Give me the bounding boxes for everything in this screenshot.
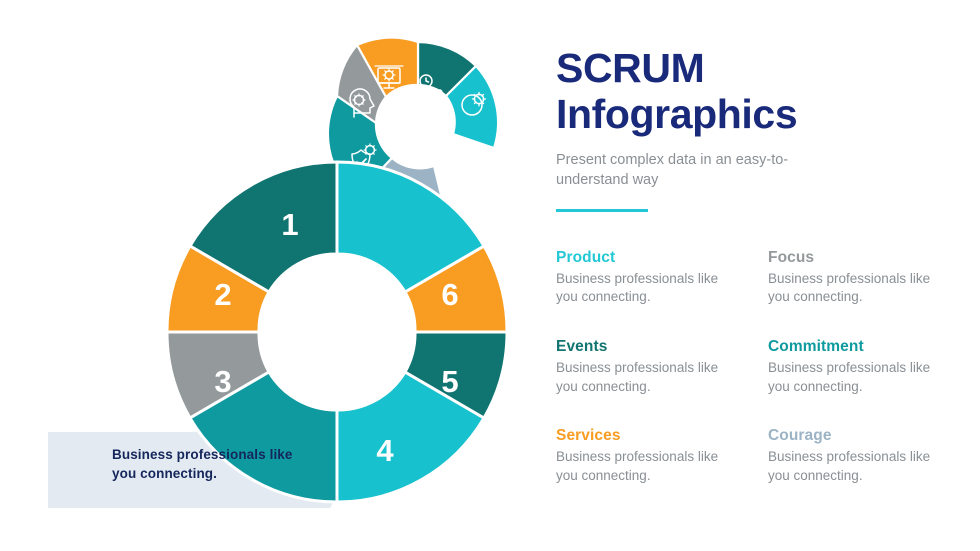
legend-title-courage: Courage xyxy=(768,427,960,445)
donut-number-1: 1 xyxy=(281,207,298,242)
legend-grid: Product Business professionals like you … xyxy=(556,249,960,486)
donut-number-5: 5 xyxy=(441,364,458,399)
donut-number-4: 4 xyxy=(376,433,394,468)
donut-number-3: 3 xyxy=(214,364,231,399)
slide-canvas: 1 2 3 4 5 6 Business professionals like … xyxy=(0,0,980,551)
callout-text: Business professionals like you connecti… xyxy=(112,445,312,483)
donut-number-6: 6 xyxy=(441,277,458,312)
legend-desc-commitment: Business professionals like you connecti… xyxy=(768,359,936,396)
legend-title-product: Product xyxy=(556,249,768,267)
legend-item-focus[interactable]: Focus Business professionals like you co… xyxy=(768,249,960,307)
legend-desc-product: Business professionals like you connecti… xyxy=(556,270,724,307)
legend-title-events: Events xyxy=(556,338,768,356)
legend-title-commitment: Commitment xyxy=(768,338,960,356)
page-subtitle: Present complex data in an easy-to-under… xyxy=(556,150,806,190)
title-line-2: Infographics xyxy=(556,92,960,138)
legend-desc-events: Business professionals like you connecti… xyxy=(556,359,724,396)
legend-item-events[interactable]: Events Business professionals like you c… xyxy=(556,338,768,396)
donut-number-2: 2 xyxy=(214,277,231,312)
legend-desc-courage: Business professionals like you connecti… xyxy=(768,448,936,485)
page-title: SCRUM Infographics xyxy=(556,46,960,138)
legend-desc-focus: Business professionals like you connecti… xyxy=(768,270,936,307)
legend-item-courage[interactable]: Courage Business professionals like you … xyxy=(768,427,960,485)
legend-desc-services: Business professionals like you connecti… xyxy=(556,448,724,485)
title-divider xyxy=(556,209,648,212)
legend-title-services: Services xyxy=(556,427,768,445)
donut-center-hole xyxy=(259,254,415,410)
content-panel: SCRUM Infographics Present complex data … xyxy=(556,46,960,516)
legend-item-services[interactable]: Services Business professionals like you… xyxy=(556,427,768,485)
title-line-1: SCRUM xyxy=(556,45,704,91)
legend-title-focus: Focus xyxy=(768,249,960,267)
legend-item-product[interactable]: Product Business professionals like you … xyxy=(556,249,768,307)
scrum-wheel-graphic: 1 2 3 4 5 6 Business professionals like … xyxy=(0,0,540,551)
legend-item-commitment[interactable]: Commitment Business professionals like y… xyxy=(768,338,960,396)
